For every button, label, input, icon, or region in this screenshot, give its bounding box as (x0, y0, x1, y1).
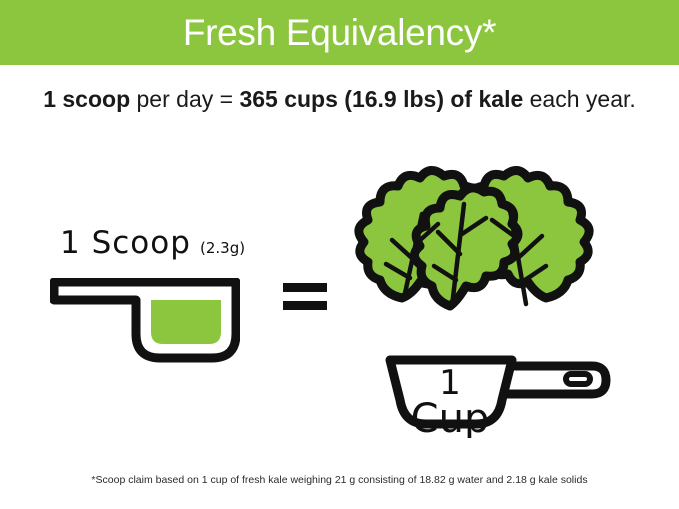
scoop-label-text: 1 Scoop (60, 225, 191, 261)
equals-bar-top (283, 283, 327, 292)
statement-part-eachyear: each year. (523, 86, 636, 112)
equals-sign-icon (280, 280, 330, 316)
scoop-fill (151, 300, 221, 344)
cup-unit-text: Cup (411, 396, 490, 438)
statement-part-cups: 365 cups (16.9 lbs) of kale (239, 86, 523, 112)
page-title: Fresh Equivalency* (183, 14, 496, 51)
statement-part-scoop: 1 scoop (43, 86, 130, 112)
footnote-disclaimer: *Scoop claim based on 1 cup of fresh kal… (0, 474, 679, 486)
equivalency-illustration: 1 Scoop (2.3g) (0, 140, 679, 450)
header-band: Fresh Equivalency* (0, 0, 679, 65)
equals-bar-bottom (283, 301, 327, 310)
cup-handle-hole (566, 374, 590, 384)
kale-leaf-center (414, 188, 518, 306)
scoop-icon (50, 278, 240, 368)
measuring-cup-with-kale-icon: 1 Cup (330, 148, 630, 438)
equivalency-statement: 1 scoop per day = 365 cups (16.9 lbs) of… (0, 86, 679, 114)
statement-part-perday: per day = (130, 86, 239, 112)
scoop-weight-text: (2.3g) (200, 239, 245, 257)
scoop-label-group: 1 Scoop (2.3g) (55, 225, 265, 267)
